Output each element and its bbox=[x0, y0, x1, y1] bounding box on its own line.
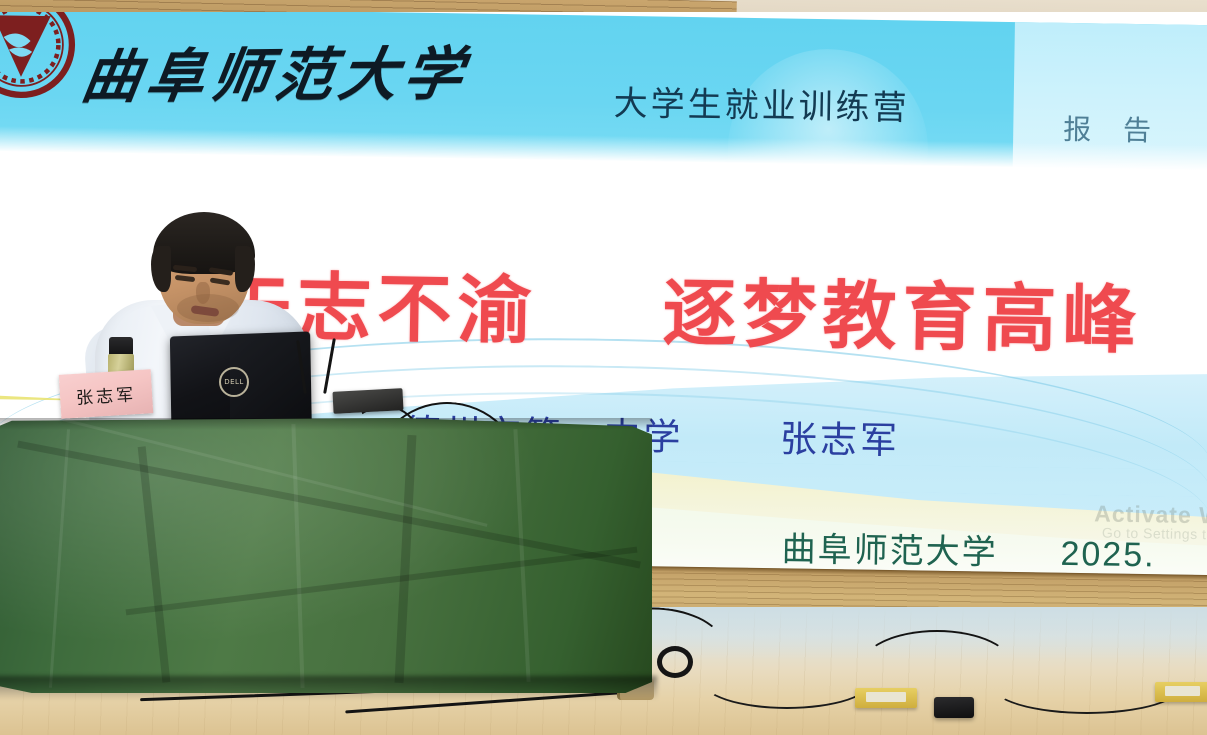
green-table-cloth bbox=[0, 418, 652, 693]
speaker-hair-left bbox=[151, 246, 171, 292]
speaker-name-card: 张志军 bbox=[59, 369, 154, 419]
speaker-hair-right bbox=[235, 246, 255, 292]
slide-main-title: 矢志不渝 逐梦教育高峰 bbox=[217, 247, 1144, 369]
footer-spacer bbox=[1009, 564, 1049, 565]
dell-logo-icon: DELL bbox=[219, 367, 249, 397]
water-bottle-cap bbox=[109, 337, 133, 355]
presenter-spacer bbox=[696, 450, 766, 451]
cloth-fold-2 bbox=[138, 446, 171, 682]
slide-footer-host: 曲阜师范大学 bbox=[781, 531, 998, 572]
screenshot-root: 曲阜师范大学 大学生就业训练营 报 告 矢志不渝 逐梦教育高峰 德州市第一中学 bbox=[0, 0, 1207, 735]
speaker-name-card-text: 张志军 bbox=[75, 380, 136, 409]
university-emblem-icon bbox=[0, 12, 76, 99]
cable-coil bbox=[657, 646, 693, 678]
cloth-fold-4 bbox=[395, 434, 417, 682]
slide-university-script-title: 曲阜师范大学 bbox=[77, 27, 475, 114]
slide-footer-line: 曲阜师范大学 2025. bbox=[781, 522, 1156, 577]
cloth-fold-5 bbox=[513, 429, 530, 682]
cloth-crease-2 bbox=[126, 546, 638, 615]
speaker-nose bbox=[196, 282, 210, 304]
slide-section-label: 报 告 bbox=[1063, 108, 1163, 150]
floor-cable-2 bbox=[700, 650, 874, 709]
table-ground-shadow bbox=[0, 676, 657, 700]
slide-presenter-name: 张志军 bbox=[780, 418, 901, 461]
table-top-edge-shadow bbox=[0, 418, 652, 430]
cloth-fold-1 bbox=[49, 429, 70, 687]
title-spacer bbox=[564, 337, 636, 338]
slide-main-title-part2: 逐梦教育高峰 bbox=[662, 272, 1143, 363]
power-strip bbox=[332, 388, 403, 414]
cloth-fold-3 bbox=[291, 424, 304, 688]
slide-program-title: 大学生就业训练营 bbox=[613, 76, 910, 130]
cloth-crease-1 bbox=[17, 440, 640, 568]
power-adapter-brick bbox=[934, 697, 974, 718]
floor-cable-cover-plate-2 bbox=[1155, 682, 1207, 702]
floor-cable-cover-plate-1 bbox=[855, 688, 917, 708]
